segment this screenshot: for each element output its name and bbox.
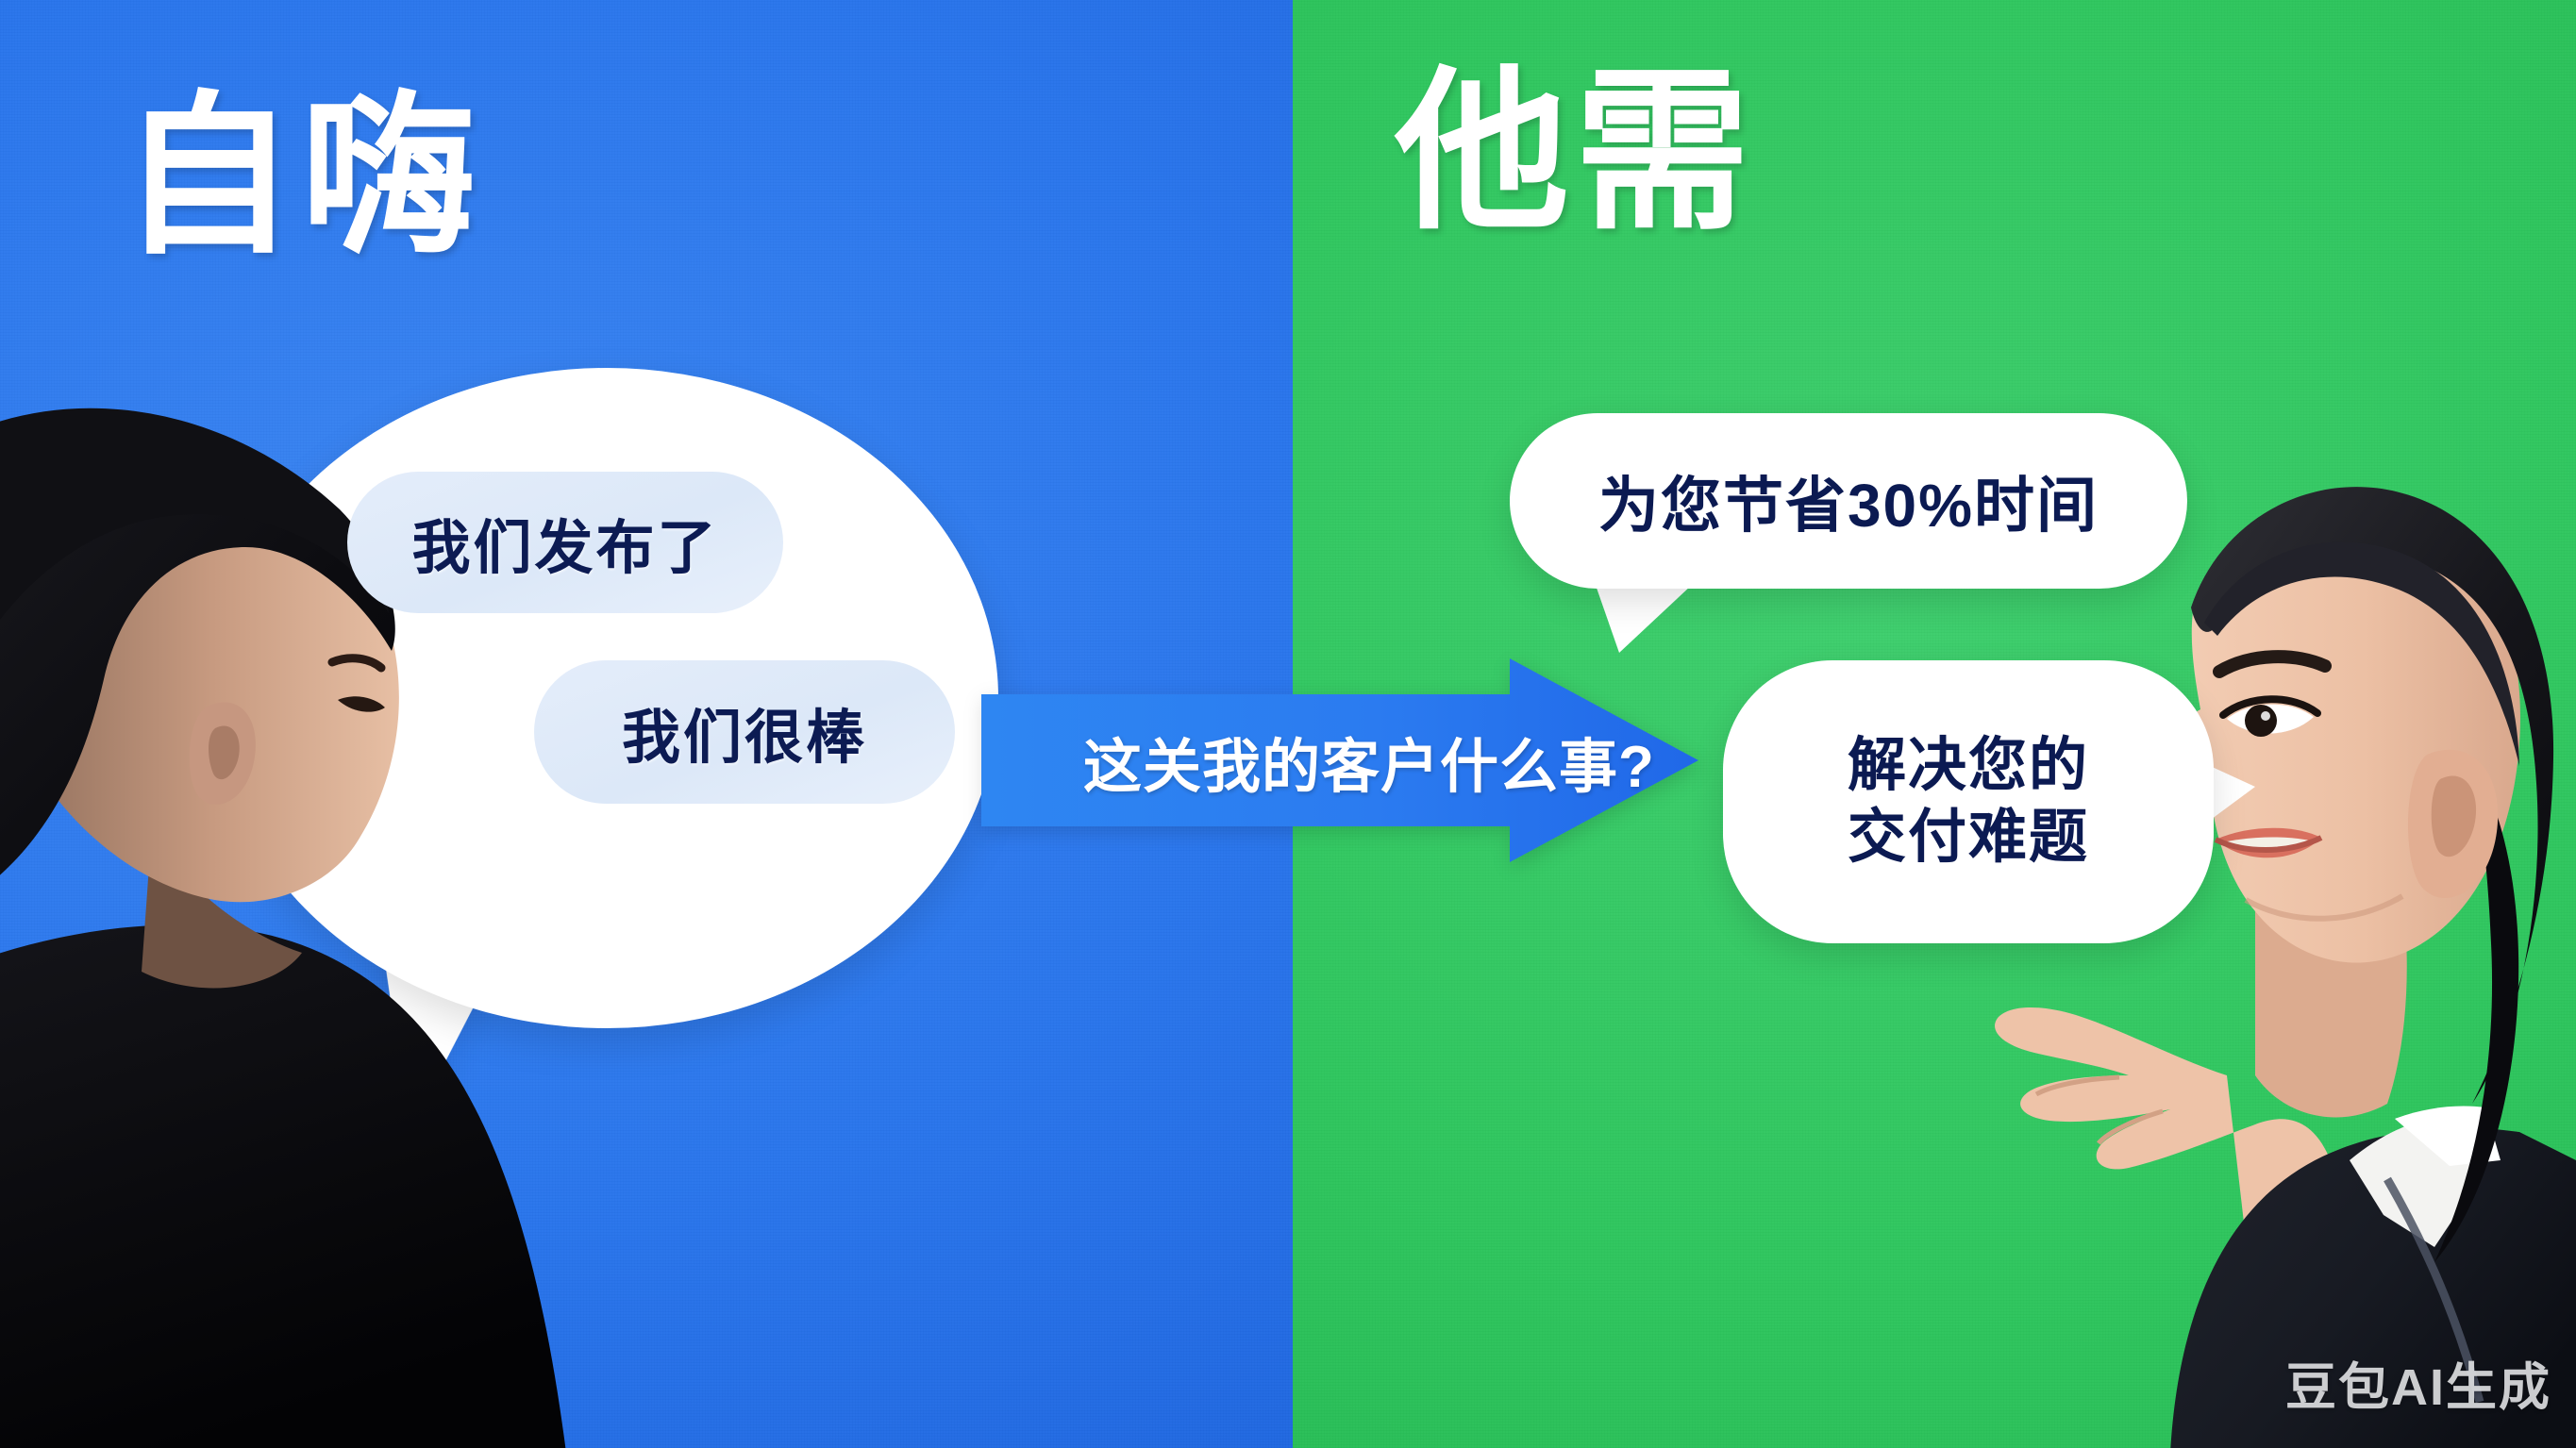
- value-bubble-time-saving: 为您节省30%时间: [1510, 413, 2187, 589]
- value-bubble-time-saving-line-1: 为您节省30%时间: [1598, 458, 2099, 544]
- right-panel-title: 他需: [1395, 66, 1755, 241]
- chat-pill-announcement: 我们发布了: [347, 472, 783, 613]
- value-bubble-delivery-line-1: 解决您的: [1848, 730, 2089, 802]
- value-bubble-delivery-line-2: 交付难题: [1848, 802, 2089, 874]
- chat-pill-selfpraise: 我们很棒: [534, 660, 955, 804]
- left-person-silhouette: [0, 236, 661, 1448]
- ai-generated-watermark: 豆包AI生成: [2285, 1345, 2551, 1420]
- arrow-question-label: 这关我的客户什么事?: [1083, 719, 1687, 804]
- comparison-poster: 我们发布了 我们很棒 自嗨 他需 这关我的客户什么事?: [0, 0, 2576, 1448]
- value-bubble-delivery: 解决您的 交付难题: [1723, 660, 2214, 943]
